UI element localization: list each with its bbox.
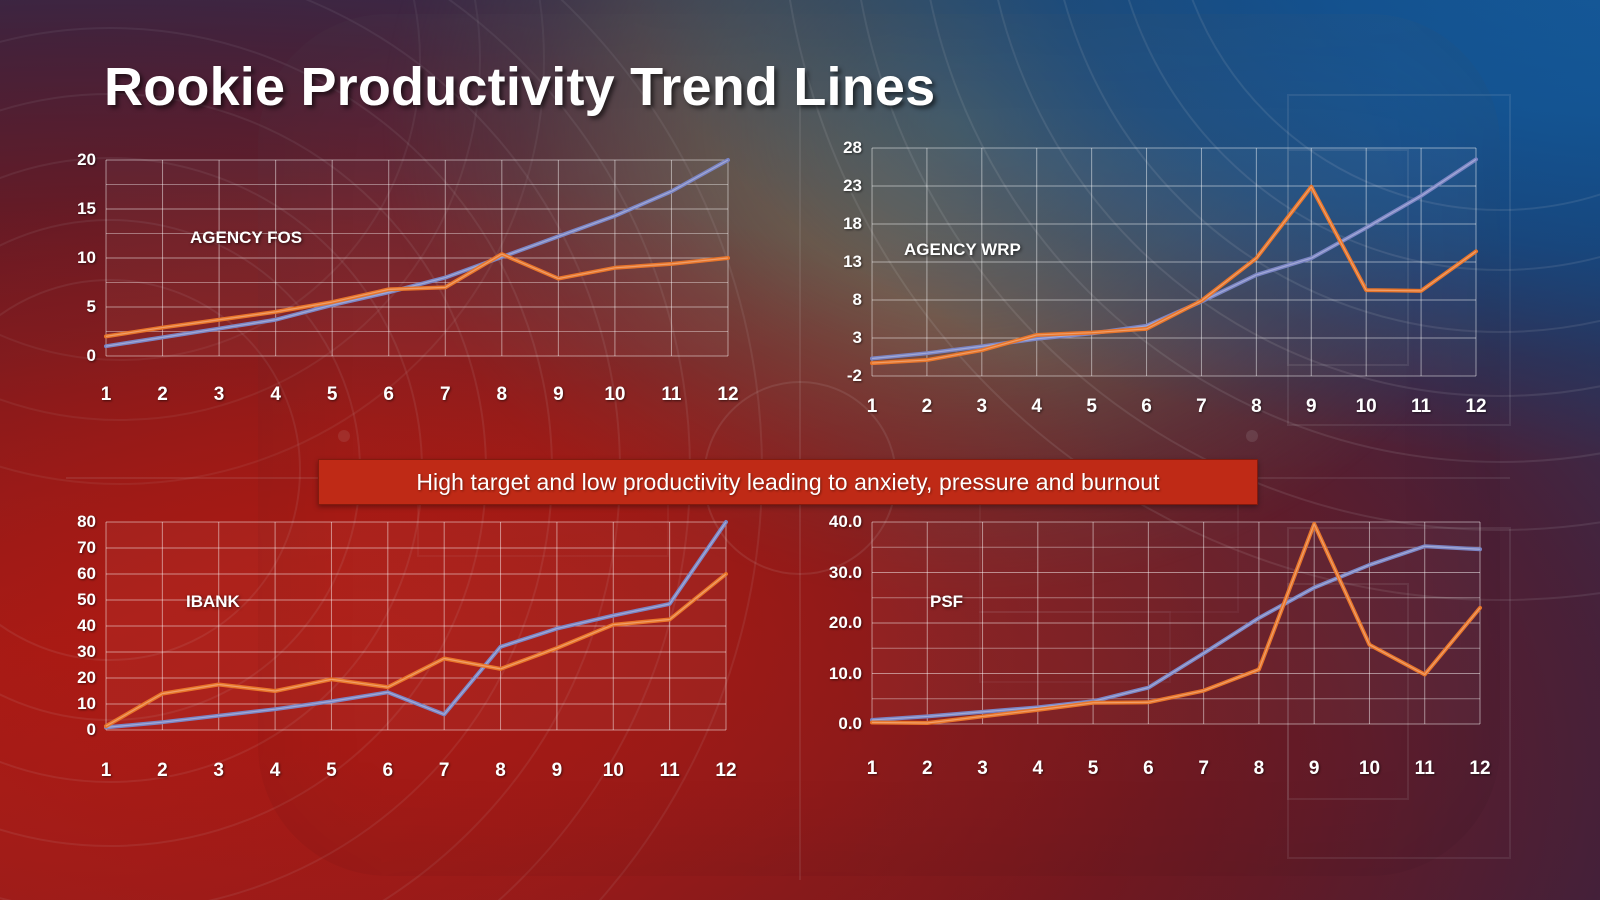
x-axis-tick-label: 11 xyxy=(1411,396,1431,418)
x-axis-tick-label: 10 xyxy=(1359,758,1380,780)
x-axis-tick-label: 4 xyxy=(1033,758,1044,780)
plot-area xyxy=(58,522,734,734)
x-axis-tick-label: 11 xyxy=(661,384,681,406)
y-axis-tick-label: 60 xyxy=(77,564,96,584)
y-axis-tick-label: 20 xyxy=(77,668,96,688)
y-axis-tick-label: 40.0 xyxy=(829,512,862,532)
y-axis: 01020304050607080 xyxy=(58,522,96,730)
y-axis-tick-label: 70 xyxy=(77,538,96,558)
chart-ibank: 01020304050607080123456789101112IBANK xyxy=(58,522,758,784)
x-axis-tick-label: 1 xyxy=(867,758,878,780)
x-axis-tick-label: 5 xyxy=(326,760,337,782)
callout-banner: High target and low productivity leading… xyxy=(318,459,1258,505)
x-axis-tick-label: 3 xyxy=(213,760,224,782)
chart-psf: 0.010.020.030.040.0123456789101112PSF xyxy=(802,522,1502,784)
x-axis-tick-label: 10 xyxy=(1356,396,1377,418)
y-axis-tick-label: 23 xyxy=(843,176,862,196)
y-axis-tick-label: 10.0 xyxy=(829,664,862,684)
x-axis-tick-label: 3 xyxy=(977,758,988,780)
x-axis-tick-label: 8 xyxy=(1251,396,1262,418)
y-axis-tick-label: 5 xyxy=(87,297,96,317)
x-axis-tick-label: 12 xyxy=(717,384,738,406)
page-title: Rookie Productivity Trend Lines xyxy=(104,56,935,118)
y-axis-tick-label: 28 xyxy=(843,138,862,158)
x-axis-tick-label: 8 xyxy=(1254,758,1265,780)
y-axis-tick-label: 80 xyxy=(77,512,96,532)
chart-title-label: PSF xyxy=(930,592,963,612)
x-axis-tick-label: 12 xyxy=(715,760,736,782)
x-axis-tick-label: 12 xyxy=(1469,758,1490,780)
x-axis-tick-label: 12 xyxy=(1465,396,1486,418)
plot-area xyxy=(806,148,1484,380)
x-axis-tick-label: 11 xyxy=(1415,758,1435,780)
y-axis-tick-label: 10 xyxy=(77,694,96,714)
x-axis-tick-label: 10 xyxy=(604,384,625,406)
y-axis-tick-label: 13 xyxy=(843,252,862,272)
x-axis-tick-label: 3 xyxy=(214,384,225,406)
x-axis-tick-label: 1 xyxy=(101,384,112,406)
x-axis-tick-label: 6 xyxy=(1141,396,1152,418)
x-axis-tick-label: 7 xyxy=(439,760,450,782)
x-axis-tick-label: 5 xyxy=(1086,396,1097,418)
y-axis-tick-label: 0.0 xyxy=(838,714,862,734)
x-axis-tick-label: 5 xyxy=(1088,758,1099,780)
x-axis-tick-label: 9 xyxy=(553,384,564,406)
x-axis-tick-label: 8 xyxy=(497,384,508,406)
x-axis-tick-label: 8 xyxy=(495,760,506,782)
y-axis: 0.010.020.030.040.0 xyxy=(802,522,862,724)
x-axis-tick-label: 2 xyxy=(922,758,933,780)
x-axis-tick-label: 6 xyxy=(383,760,394,782)
y-axis-tick-label: 30 xyxy=(77,642,96,662)
x-axis-tick-label: 7 xyxy=(1196,396,1207,418)
y-axis-tick-label: 8 xyxy=(853,290,862,310)
y-axis-tick-label: 50 xyxy=(77,590,96,610)
y-axis-tick-label: 0 xyxy=(87,720,96,740)
x-axis-tick-label: 4 xyxy=(270,760,281,782)
y-axis-tick-label: 18 xyxy=(843,214,862,234)
x-axis-tick-label: 2 xyxy=(157,760,168,782)
x-axis-tick-label: 5 xyxy=(327,384,338,406)
x-axis-tick-label: 1 xyxy=(867,396,878,418)
x-axis-tick-label: 7 xyxy=(440,384,451,406)
y-axis-tick-label: 20 xyxy=(77,150,96,170)
y-axis-tick-label: 40 xyxy=(77,616,96,636)
x-axis-tick-label: 6 xyxy=(1143,758,1154,780)
y-axis-tick-label: 20.0 xyxy=(829,613,862,633)
x-axis-tick-label: 2 xyxy=(922,396,933,418)
slide-canvas: Rookie Productivity Trend Lines 05101520… xyxy=(0,0,1600,900)
x-axis-tick-label: 7 xyxy=(1198,758,1209,780)
y-axis: 05101520 xyxy=(62,160,96,356)
x-axis-tick-label: 1 xyxy=(101,760,112,782)
chart-title-label: AGENCY FOS xyxy=(190,228,302,248)
x-axis-tick-label: 9 xyxy=(552,760,563,782)
y-axis-tick-label: 10 xyxy=(77,248,96,268)
chart-agency-wrp: -23813182328123456789101112AGENCY WRP xyxy=(806,148,1506,410)
x-axis-tick-label: 11 xyxy=(660,760,680,782)
x-axis-tick-label: 9 xyxy=(1306,396,1317,418)
x-axis-tick-label: 4 xyxy=(270,384,281,406)
x-axis-tick-label: 3 xyxy=(977,396,988,418)
y-axis-tick-label: -2 xyxy=(847,366,862,386)
chart-title-label: IBANK xyxy=(186,592,240,612)
y-axis-tick-label: 15 xyxy=(77,199,96,219)
callout-banner-text: High target and low productivity leading… xyxy=(416,469,1159,496)
x-axis-tick-label: 4 xyxy=(1031,396,1042,418)
chart-agency-fos: 05101520123456789101112AGENCY FOS xyxy=(62,160,762,410)
x-axis-tick-label: 9 xyxy=(1309,758,1320,780)
plot-area xyxy=(62,160,736,360)
x-axis-tick-label: 2 xyxy=(157,384,168,406)
y-axis: -23813182328 xyxy=(806,148,862,376)
chart-title-label: AGENCY WRP xyxy=(904,240,1021,260)
plot-area xyxy=(802,522,1488,728)
x-axis-tick-label: 6 xyxy=(383,384,394,406)
x-axis-tick-label: 10 xyxy=(603,760,624,782)
y-axis-tick-label: 3 xyxy=(853,328,862,348)
y-axis-tick-label: 0 xyxy=(87,346,96,366)
y-axis-tick-label: 30.0 xyxy=(829,563,862,583)
